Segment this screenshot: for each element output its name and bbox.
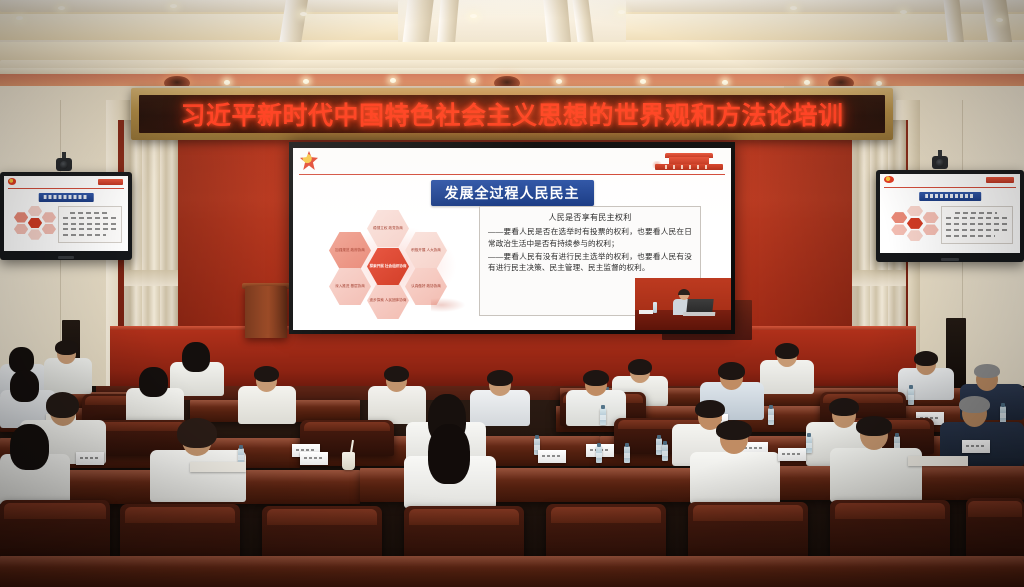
name-card bbox=[962, 440, 990, 453]
slide-header-rule bbox=[299, 174, 725, 175]
presentation-slide: 发展全过程人民民主 稳搜立权 政党协商 积极开展 人大协商 加强规范 政府协商 … bbox=[293, 148, 731, 330]
name-card bbox=[300, 452, 328, 465]
water-bottle bbox=[662, 444, 668, 461]
document-sheet bbox=[190, 462, 246, 472]
laptop-icon bbox=[686, 299, 713, 313]
tv-left-slide bbox=[4, 176, 128, 251]
water-bottle bbox=[600, 408, 606, 425]
stage-curtain-left bbox=[124, 120, 178, 352]
audience-member bbox=[566, 372, 626, 422]
wall-tv-right bbox=[876, 170, 1024, 262]
textbox-paragraph: ——要看人民是否在选举时有投票的权利，也要看人民在日常政治生活中是否有持续参与的… bbox=[488, 226, 692, 250]
desk-row bbox=[0, 556, 1024, 587]
hexagon-diagram: 稳搜立权 政党协商 积极开展 人大协商 加强规范 政府协商 认真做好 政协协商 … bbox=[327, 210, 467, 318]
led-banner-screen: 习近平新时代中国特色社会主义思想的世界观和方法论培训 bbox=[139, 95, 885, 133]
audience-member bbox=[760, 344, 814, 392]
chair bbox=[966, 498, 1024, 560]
led-banner: 习近平新时代中国特色社会主义思想的世界观和方法论培训 bbox=[131, 88, 893, 140]
banner-text: 习近平新时代中国特色社会主义思想的世界观和方法论培训 bbox=[180, 96, 843, 132]
audience-member bbox=[830, 416, 922, 494]
podium bbox=[245, 286, 287, 338]
ceiling-camera-icon bbox=[932, 156, 948, 169]
textbox-heading: 人民是否享有民主权利 bbox=[488, 212, 692, 223]
water-bottle bbox=[806, 436, 812, 453]
name-card bbox=[778, 448, 806, 461]
name-card bbox=[538, 450, 566, 463]
audience-member bbox=[238, 368, 296, 420]
lecturer-video-inset bbox=[635, 278, 731, 330]
audience-member bbox=[150, 420, 246, 494]
document-sheet bbox=[908, 456, 968, 466]
tv-right-slide bbox=[880, 174, 1020, 253]
wall-tv-left bbox=[0, 172, 132, 260]
tiananmen-icon bbox=[655, 152, 723, 170]
audience-member bbox=[126, 370, 184, 424]
party-emblem-icon bbox=[300, 151, 318, 170]
audience-member bbox=[898, 352, 954, 396]
chair bbox=[688, 502, 808, 564]
audience-member bbox=[690, 420, 780, 496]
textbox-paragraph: ——要看人民有没有进行民主选举的权利，也要看人民有没有进行民主决策、民主管理、民… bbox=[488, 251, 692, 275]
water-bottle bbox=[624, 446, 630, 463]
chair bbox=[830, 500, 950, 562]
slide-header bbox=[293, 148, 731, 174]
audience-member bbox=[404, 424, 496, 500]
water-bottle bbox=[908, 388, 914, 405]
audience-member bbox=[0, 424, 70, 498]
chair bbox=[0, 500, 110, 560]
drink-cup bbox=[342, 452, 355, 470]
name-card bbox=[76, 452, 104, 465]
ceiling-camera-icon bbox=[56, 158, 72, 171]
projection-screen: 发展全过程人民民主 稳搜立权 政党协商 积极开展 人大协商 加强规范 政府协商 … bbox=[293, 148, 731, 330]
conference-hall-photo: 习近平新时代中国特色社会主义思想的世界观和方法论培训 bbox=[0, 0, 1024, 587]
water-bottle bbox=[596, 446, 602, 463]
slide-title: 发展全过程人民民主 bbox=[431, 180, 594, 206]
